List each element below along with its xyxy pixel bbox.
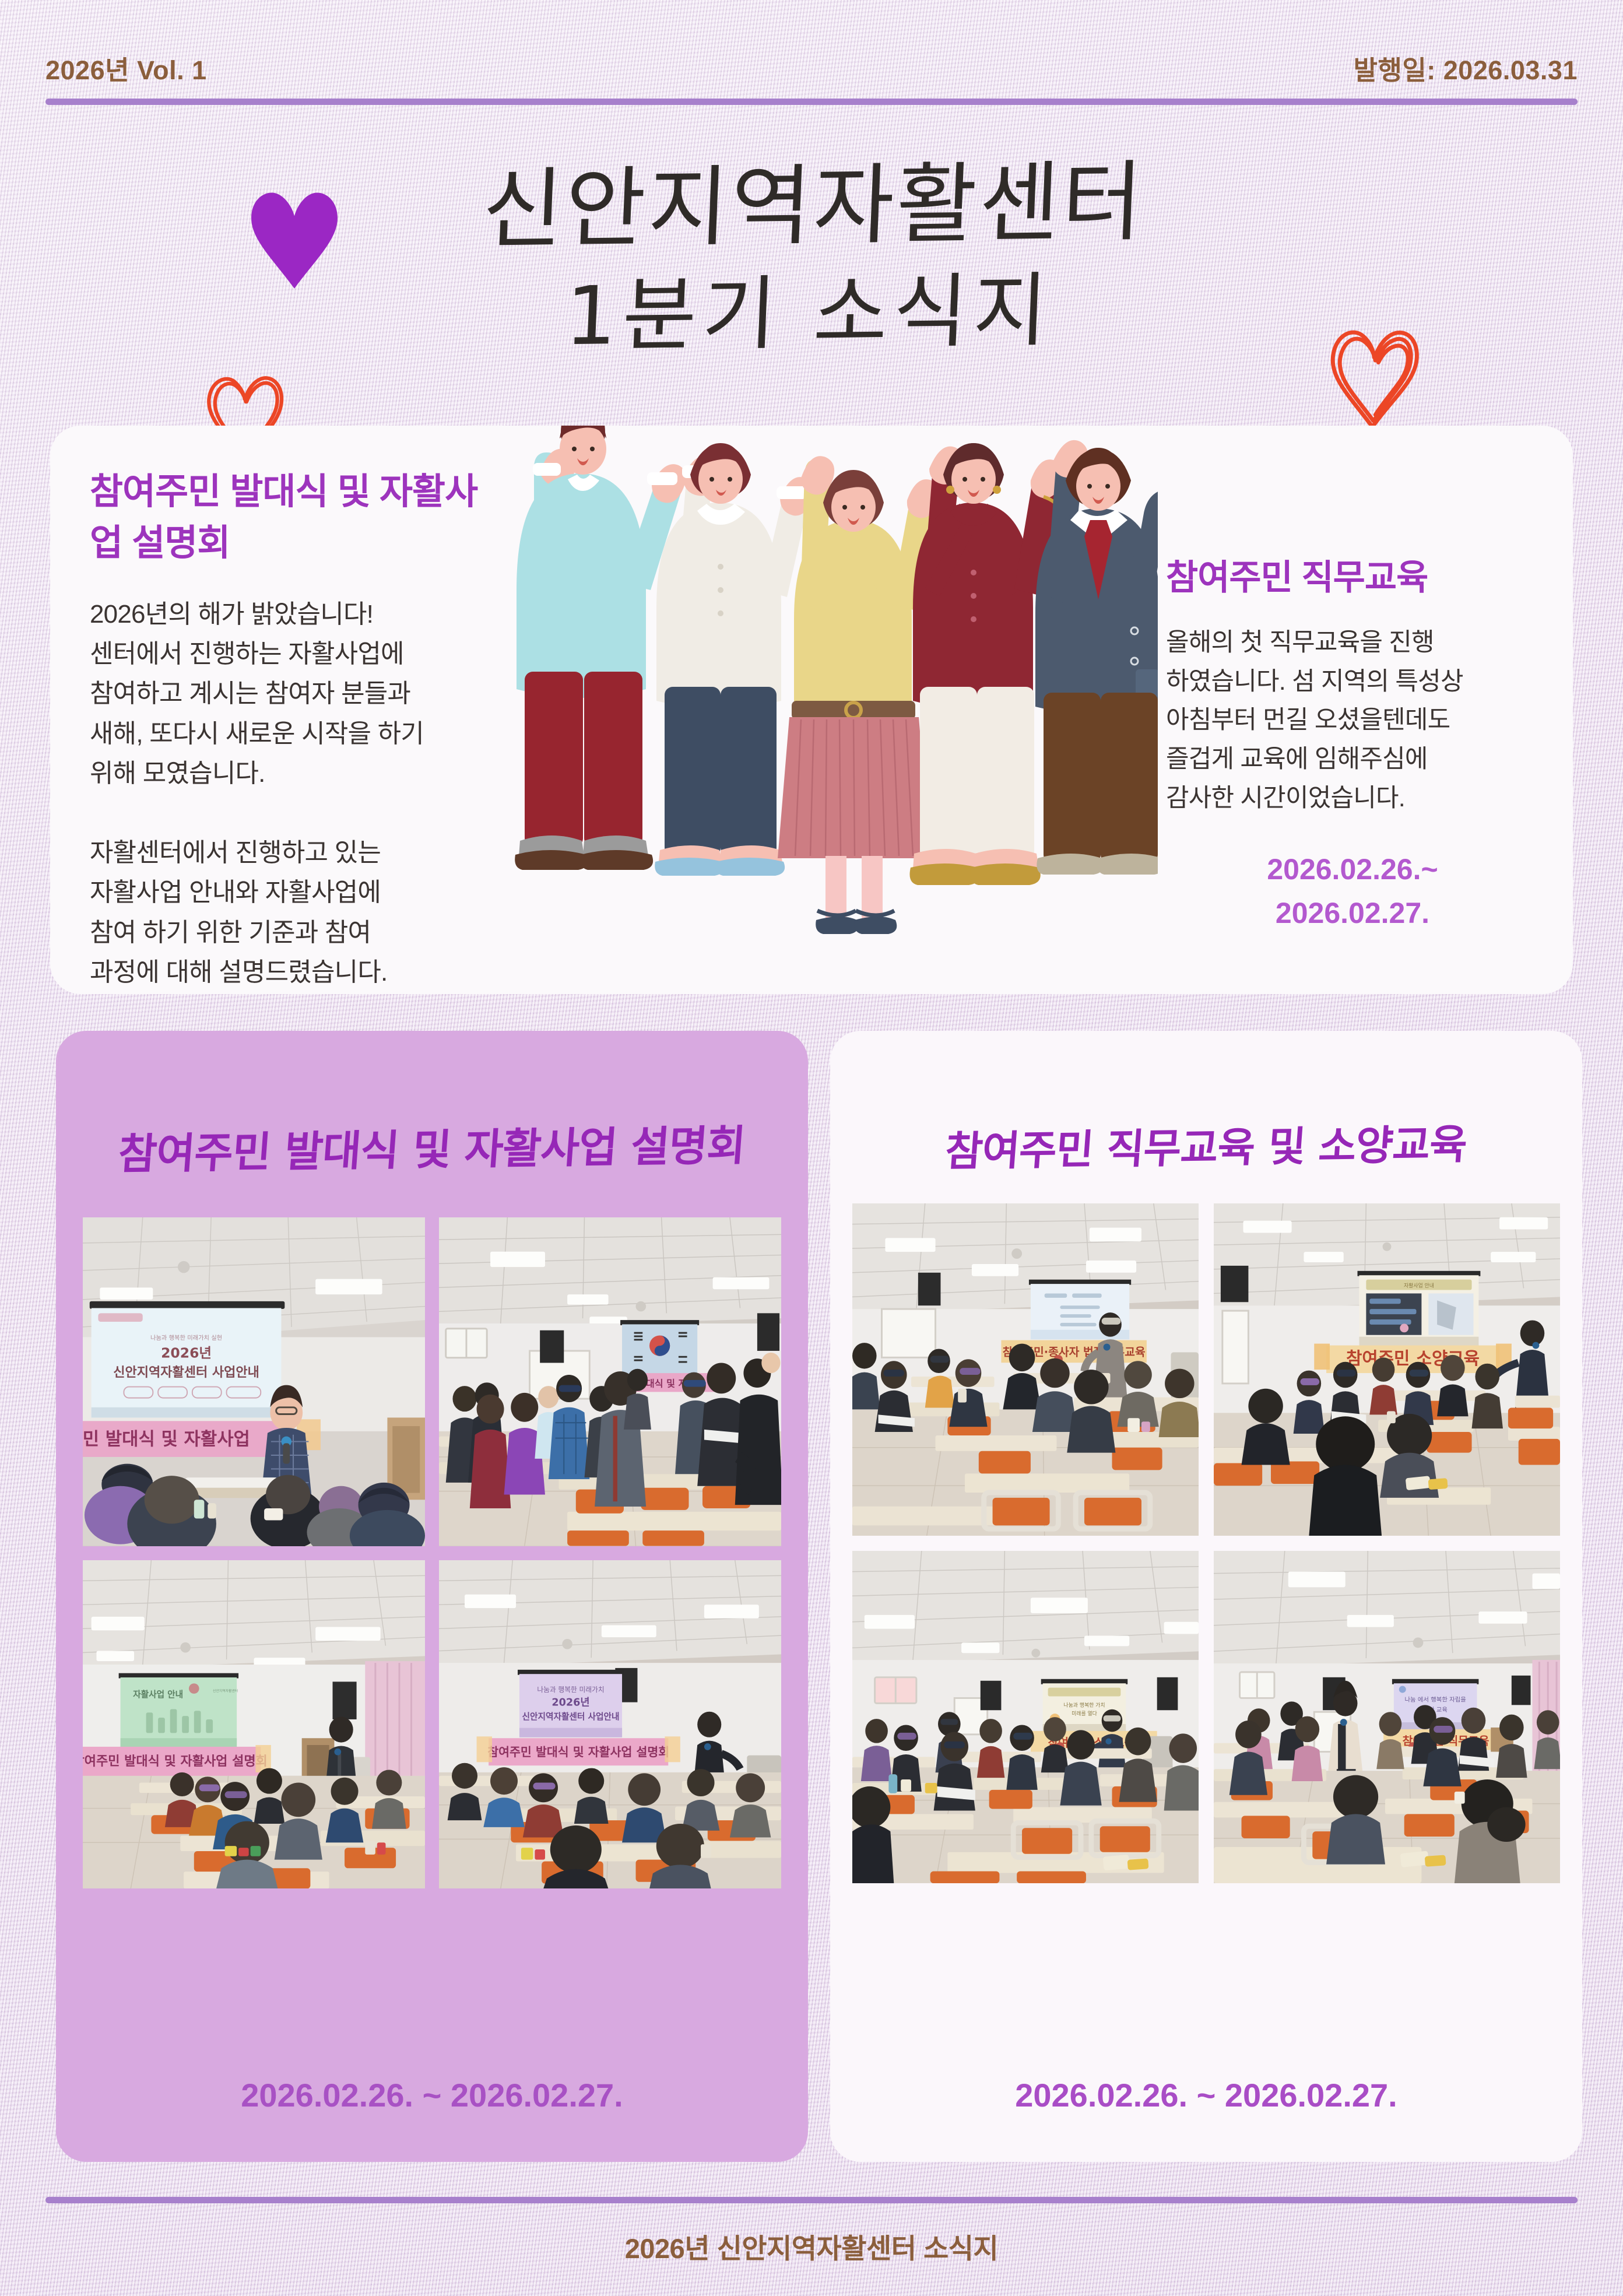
svg-text:미래를 열다: 미래를 열다 bbox=[1072, 1711, 1097, 1717]
photo-lecture-blue-slide: 참여주민·종사자 법정의무교육 bbox=[852, 1203, 1199, 1536]
intro-right-body: 올해의 첫 직무교육을 진행 하였습니다. 섬 지역의 특성상 아침부터 먼길 … bbox=[1166, 623, 1539, 817]
svg-text:자활사업 안내: 자활사업 안내 bbox=[1404, 1282, 1434, 1289]
panel-left-photo-grid: 나눔과 행복한 미래가치 실현 2026년 신안지역자활센터 사업안내 주민 발… bbox=[83, 1217, 781, 1888]
footer-label: 2026년 신안지역자활센터 소식지 bbox=[0, 2226, 1623, 2266]
svg-text:주민 발대식 및 자활사업: 주민 발대식 및 자활사업 bbox=[83, 1428, 250, 1449]
intro-right-dates: 2026.02.26.~ 2026.02.27. bbox=[1166, 848, 1539, 935]
volume-label: 2026년 Vol. 1 bbox=[45, 49, 207, 87]
svg-text:나눔 에서 행복한 자립을: 나눔 에서 행복한 자립을 bbox=[1404, 1696, 1466, 1704]
photo-jikmu-education: 나눔 에서 행복한 자립을 위한 교육 참여주민 직무교육 bbox=[1214, 1551, 1560, 1883]
newsletter-page: 2026년 Vol. 1 발행일: 2026.03.31 bbox=[0, 0, 1623, 2296]
photo-wide-room-lecture: 나눔과 행복한 가치 미래를 열다 참여주민 소양교육 bbox=[852, 1551, 1199, 1883]
panel-jikmu-soyang: 참여주민 직무교육 및 소양교육 bbox=[830, 1031, 1582, 2162]
intro-left-heading: 참여주민 발대식 및 자활사업 설명회 bbox=[90, 466, 498, 569]
photo-green-slide-session: 자활사업 안내 신안지역자활센터 참여주민 발대식 및 자활사업 설명회 bbox=[83, 1560, 425, 1889]
photo-audience-standing-flag: 대식 및 자활사 bbox=[439, 1217, 781, 1546]
issue-date-label: 발행일: 2026.03.31 bbox=[1354, 49, 1578, 87]
svg-text:2026년: 2026년 bbox=[161, 1345, 212, 1361]
panel-right-photo-grid: 참여주민·종사자 법정의무교육 bbox=[852, 1203, 1560, 1883]
photo-presenter-with-screen: 나눔과 행복한 미래가치 실현 2026년 신안지역자활센터 사업안내 주민 발… bbox=[83, 1217, 425, 1546]
svg-text:참여주민 발대식 및 자활사업 설명회: 참여주민 발대식 및 자활사업 설명회 bbox=[83, 1754, 268, 1769]
svg-text:신안지역자활센터: 신안지역자활센터 bbox=[213, 1688, 238, 1693]
header-divider bbox=[45, 99, 1578, 105]
svg-text:2026년: 2026년 bbox=[551, 1697, 589, 1708]
intro-right-heading: 참여주민 직무교육 bbox=[1166, 553, 1539, 602]
title-block: 신안지역자활센터 1분기 소식지 bbox=[0, 139, 1623, 384]
intro-right-column: 참여주민 직무교육 올해의 첫 직무교육을 진행 하였습니다. 섬 지역의 특성… bbox=[1166, 553, 1539, 935]
photo-purple-slide-session: 나눔과 행복한 미래가치 2026년 신안지역자활센터 사업안내 참여주민 발대… bbox=[439, 1560, 781, 1889]
intro-card: 참여주민 발대식 및 자활사업 설명회 2026년의 해가 밝았습니다! 센터에… bbox=[50, 426, 1573, 994]
panel-left-caption: 2026.02.26. ~ 2026.02.27. bbox=[56, 2076, 808, 2114]
panel-right-title: 참여주민 직무교육 및 소양교육 bbox=[830, 1110, 1582, 1179]
title-line-2: 1분기 소식지 bbox=[0, 252, 1623, 375]
intro-left-body: 2026년의 해가 밝았습니다! 센터에서 진행하는 자활사업에 참여하고 계시… bbox=[90, 595, 498, 992]
svg-text:자활사업 안내: 자활사업 안내 bbox=[133, 1688, 183, 1699]
five-people-cheering-illustration bbox=[447, 426, 1158, 994]
svg-text:나눔과 행복한 미래가치: 나눔과 행복한 미래가치 bbox=[537, 1686, 604, 1694]
svg-text:참여주민 발대식 및 자활사업 설명회: 참여주민 발대식 및 자활사업 설명회 bbox=[487, 1745, 669, 1759]
svg-text:신안지역자활센터 사업안내: 신안지역자활센터 사업안내 bbox=[522, 1711, 620, 1721]
svg-text:나눔과 행복한 미래가치 실현: 나눔과 행복한 미래가치 실현 bbox=[150, 1335, 222, 1342]
intro-left-column: 참여주민 발대식 및 자활사업 설명회 2026년의 해가 밝았습니다! 센터에… bbox=[90, 466, 498, 992]
title-line-1: 신안지역자활센터 bbox=[0, 141, 1623, 272]
svg-text:신안지역자활센터 사업안내: 신안지역자활센터 사업안내 bbox=[113, 1365, 259, 1380]
page-title: 신안지역자활센터 1분기 소식지 bbox=[0, 141, 1623, 375]
panel-right-caption: 2026.02.26. ~ 2026.02.27. bbox=[830, 2076, 1582, 2114]
masthead: 2026년 Vol. 1 발행일: 2026.03.31 bbox=[45, 41, 1578, 105]
panel-balsaeksik: 참여주민 발대식 및 자활사업 설명회 bbox=[56, 1031, 808, 2162]
panel-left-title: 참여주민 발대식 및 자활사업 설명회 bbox=[56, 1110, 808, 1182]
footer-divider bbox=[45, 2197, 1578, 2203]
photo-soyang-education: 자활사업 안내 참여주민 소양교육 bbox=[1214, 1203, 1560, 1536]
svg-text:나눔과 행복한 가치: 나눔과 행복한 가치 bbox=[1063, 1702, 1105, 1709]
